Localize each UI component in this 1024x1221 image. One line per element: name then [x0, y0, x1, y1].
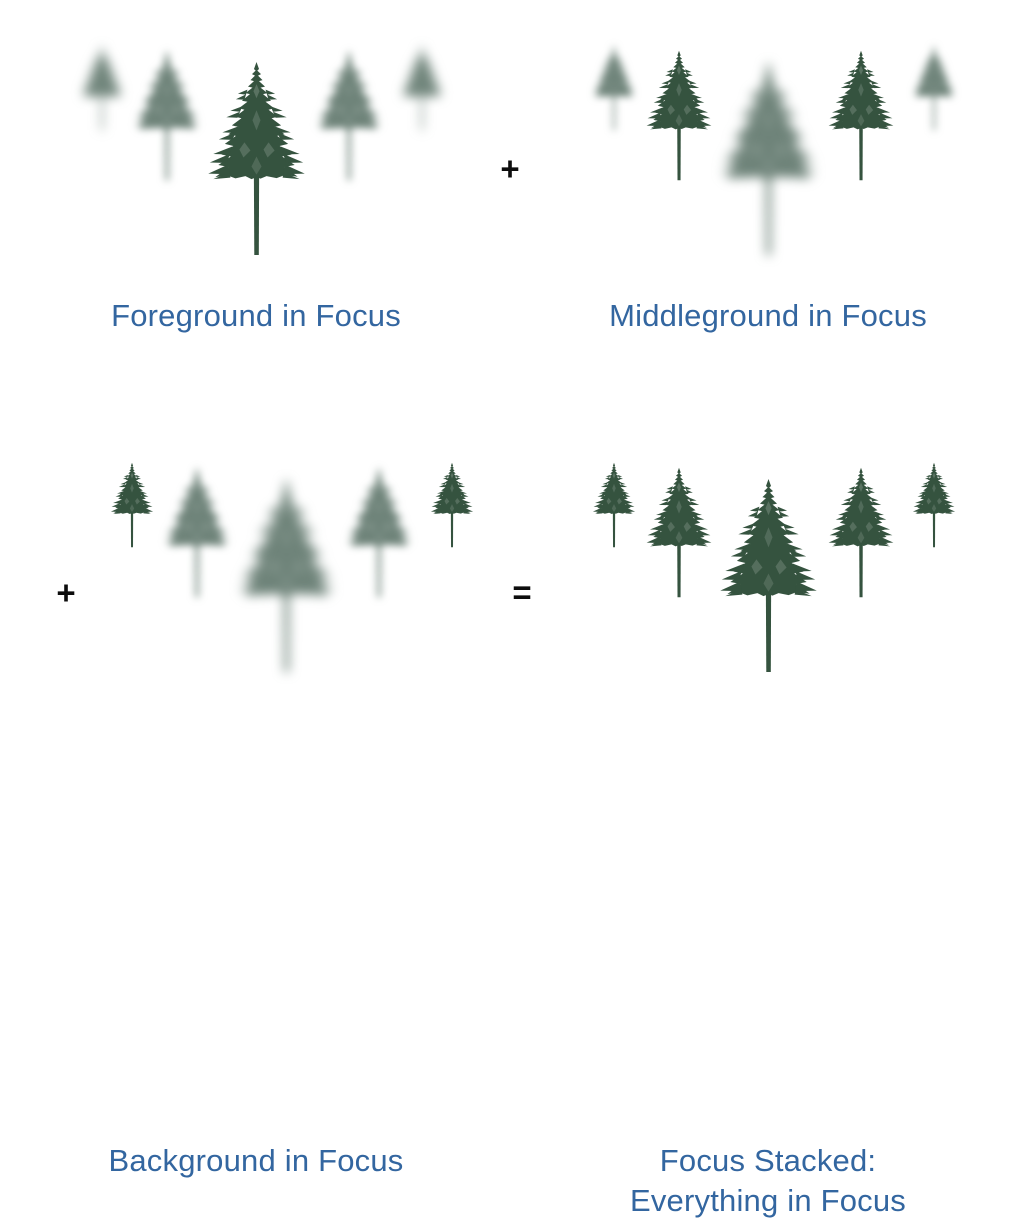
focus-stacking-diagram: Foreground in Focus Middleground in Focu…	[0, 0, 1024, 858]
medium-right-tree	[313, 48, 385, 183]
large-center-tree	[206, 58, 307, 259]
tree-scene-middleground	[512, 0, 1024, 300]
large-center-tree	[718, 58, 819, 259]
medium-left-tree	[643, 465, 715, 600]
small-left-tree	[592, 42, 636, 134]
tree-scene-stacked	[512, 429, 1024, 729]
small-right-tree	[912, 459, 956, 551]
caption-middleground: Middleground in Focus	[512, 296, 1024, 336]
plus-operator-bottom: +	[46, 576, 86, 609]
small-left-tree	[80, 42, 124, 134]
small-right-tree	[912, 42, 956, 134]
plus-operator-top: +	[490, 152, 530, 185]
panel-middleground: Middleground in Focus	[512, 0, 1024, 429]
medium-right-tree	[825, 465, 897, 600]
large-center-tree	[718, 475, 819, 676]
equals-operator: =	[502, 576, 542, 609]
small-right-tree	[400, 42, 444, 134]
caption-background: Background in Focus	[0, 1141, 512, 1181]
medium-left-tree	[643, 48, 715, 183]
medium-left-tree	[131, 48, 203, 183]
medium-right-tree	[343, 465, 415, 600]
panel-foreground: Foreground in Focus	[0, 0, 512, 429]
small-left-tree	[110, 459, 154, 551]
medium-right-tree	[825, 48, 897, 183]
small-right-tree	[430, 459, 474, 551]
tree-scene-foreground	[0, 0, 512, 300]
large-center-tree	[236, 475, 337, 676]
panel-stacked: Focus Stacked: Everything in Focus	[512, 429, 1024, 858]
panel-background: Background in Focus	[0, 429, 512, 858]
small-left-tree	[592, 459, 636, 551]
caption-stacked: Focus Stacked: Everything in Focus	[512, 1141, 1024, 1221]
caption-foreground: Foreground in Focus	[0, 296, 512, 336]
medium-left-tree	[161, 465, 233, 600]
